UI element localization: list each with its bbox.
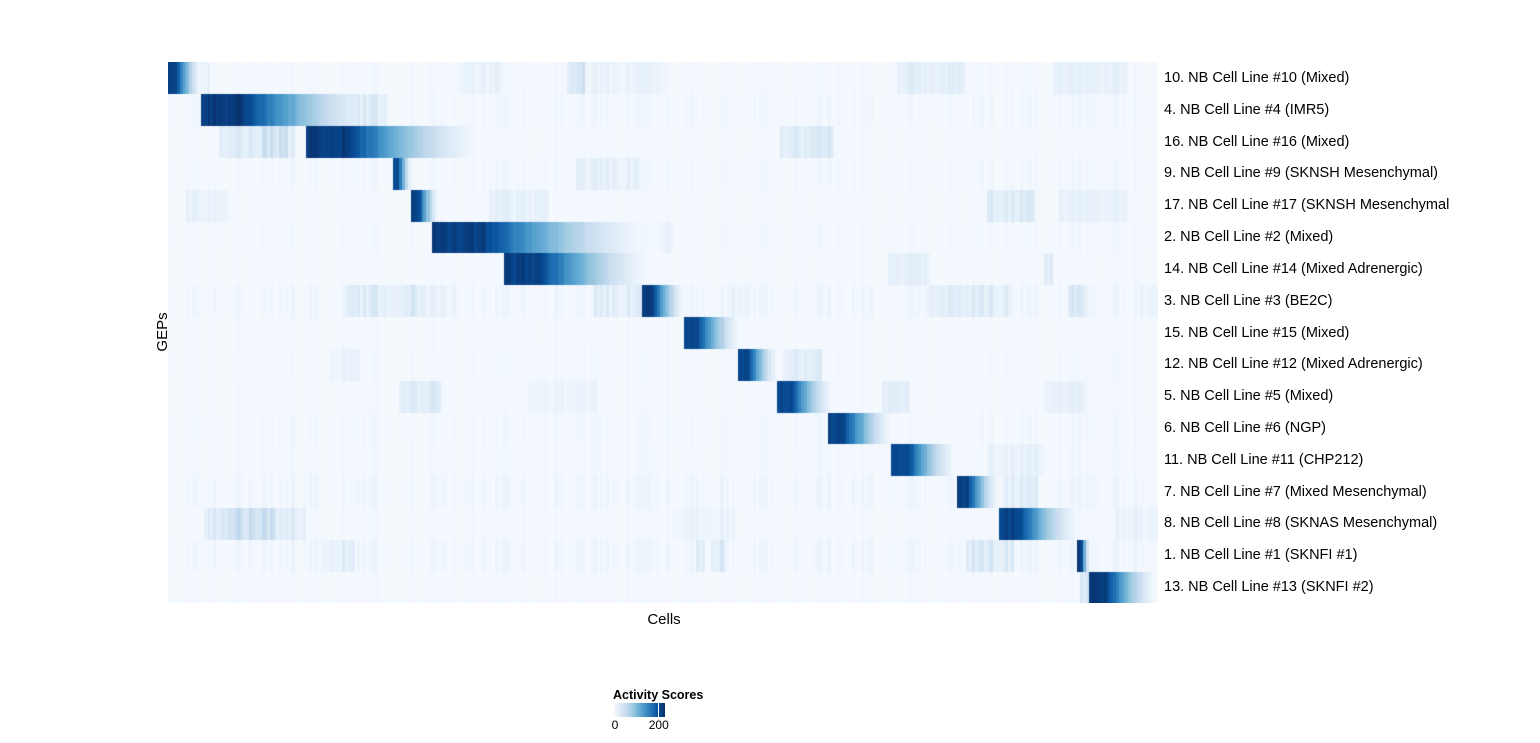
colorbar-title: Activity Scores <box>613 688 703 702</box>
row-label: 8. NB Cell Line #8 (SKNAS Mesenchymal) <box>1164 514 1437 532</box>
row-label: 12. NB Cell Line #12 (Mixed Adrenergic) <box>1164 355 1423 373</box>
row-label: 6. NB Cell Line #6 (NGP) <box>1164 419 1326 437</box>
colorbar-tick-label: 200 <box>649 718 669 732</box>
x-axis-title: Cells <box>564 611 764 628</box>
heatmap-plot <box>168 62 1158 603</box>
colorbar-tick <box>658 703 659 717</box>
colorbar-tick-label: 0 <box>612 718 619 732</box>
row-label: 10. NB Cell Line #10 (Mixed) <box>1164 69 1349 87</box>
row-label: 9. NB Cell Line #9 (SKNSH Mesenchymal) <box>1164 164 1438 182</box>
row-label: 11. NB Cell Line #11 (CHP212) <box>1164 451 1363 469</box>
row-label: 14. NB Cell Line #14 (Mixed Adrenergic) <box>1164 260 1423 278</box>
y-axis-title: GEPs <box>131 300 195 364</box>
heatmap-canvas <box>168 62 1158 603</box>
row-label: 15. NB Cell Line #15 (Mixed) <box>1164 324 1349 342</box>
row-label: 1. NB Cell Line #1 (SKNFI #1) <box>1164 546 1357 564</box>
row-label: 2. NB Cell Line #2 (Mixed) <box>1164 228 1333 246</box>
heatmap-figure: GEPs Cells 10. NB Cell Line #10 (Mixed)4… <box>0 0 1540 743</box>
row-label: 17. NB Cell Line #17 (SKNSH Mesenchymal <box>1164 196 1449 214</box>
row-label: 3. NB Cell Line #3 (BE2C) <box>1164 292 1332 310</box>
row-label: 4. NB Cell Line #4 (IMR5) <box>1164 101 1329 119</box>
colorbar-bar-wrap <box>613 703 665 717</box>
row-label: 16. NB Cell Line #16 (Mixed) <box>1164 133 1349 151</box>
colorbar-tick <box>613 703 614 717</box>
row-label: 13. NB Cell Line #13 (SKNFI #2) <box>1164 578 1374 596</box>
row-label: 7. NB Cell Line #7 (Mixed Mesenchymal) <box>1164 483 1427 501</box>
row-label-list: 10. NB Cell Line #10 (Mixed)4. NB Cell L… <box>1164 62 1534 603</box>
row-label: 5. NB Cell Line #5 (Mixed) <box>1164 387 1333 405</box>
